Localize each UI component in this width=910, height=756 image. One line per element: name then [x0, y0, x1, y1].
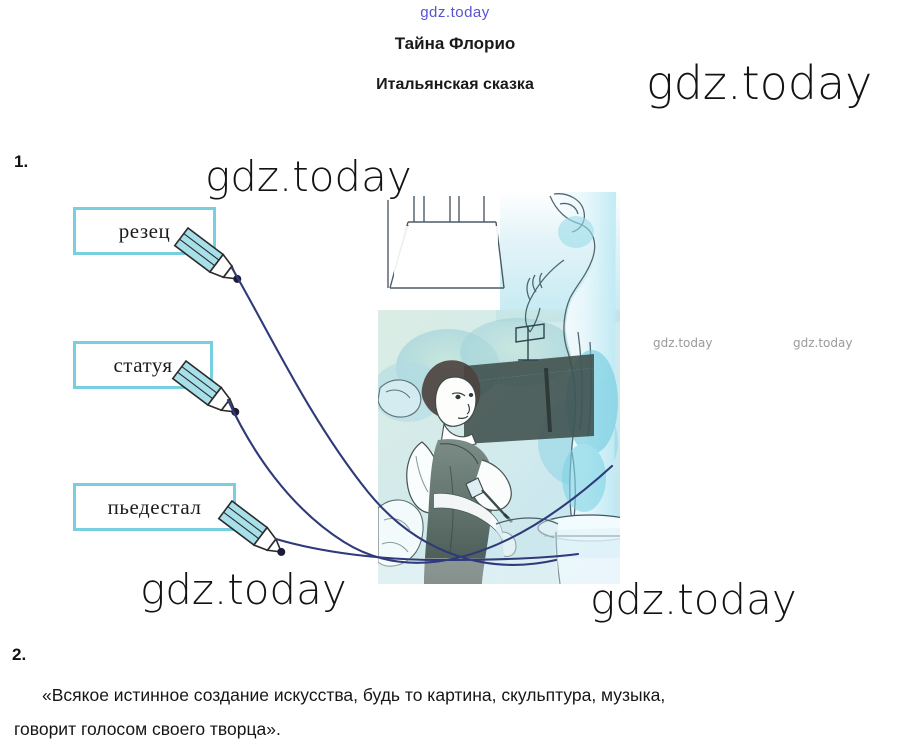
sculptor-workshop-illustration	[378, 192, 620, 584]
term-label: резец	[119, 219, 170, 244]
task-2-number: 2.	[12, 645, 26, 665]
term-label: пьедестал	[108, 495, 202, 520]
watermark-gdz-today-small: gdz.today	[653, 336, 712, 350]
watermark-gdz-today: gdz.today	[590, 575, 797, 624]
term-box-statuya[interactable]: статуя	[73, 341, 213, 389]
term-box-rezets[interactable]: резец	[73, 207, 216, 255]
watermark-gdz-today: gdz.today	[646, 56, 872, 110]
term-box-pedestal[interactable]: пьедестал	[73, 483, 236, 531]
task-1-number: 1.	[14, 152, 28, 172]
quote-line-2: говорит голосом своего творца».	[14, 712, 281, 746]
quote-line-1: «Всякое истинное создание искусства, буд…	[14, 678, 898, 712]
top-watermark: gdz.today	[0, 4, 910, 21]
watermark-gdz-today: gdz.today	[205, 152, 412, 201]
watermark-gdz-today-small: gdz.today	[793, 336, 852, 350]
page-title: Тайна Флорио	[0, 34, 910, 54]
term-label: статуя	[113, 353, 172, 378]
watermark-gdz-today: gdz.today	[140, 565, 347, 614]
